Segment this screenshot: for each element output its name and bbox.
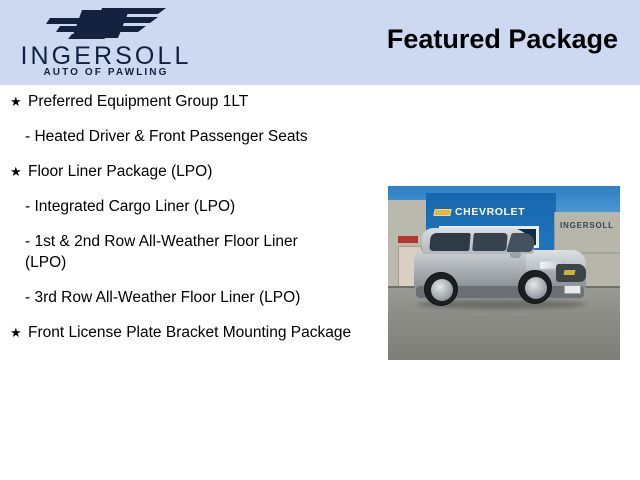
page-header: INGERSOLL AUTO OF PAWLING Featured Packa… — [0, 0, 640, 85]
page-title: Featured Package — [387, 24, 618, 55]
vehicle-photo: CHEVROLET INGERSOLL — [388, 186, 620, 360]
feature-sub-item: - 3rd Row All-Weather Floor Liner (LPO) — [25, 287, 333, 308]
feature-sub-item: - Integrated Cargo Liner (LPO) — [25, 196, 333, 217]
dealer-name: INGERSOLL — [8, 44, 204, 69]
photo-dealership-sign-text: CHEVROLET — [455, 206, 525, 218]
star-bullet-icon: ★ — [10, 91, 28, 112]
feature-item: ★ Floor Liner Package (LPO) — [0, 161, 380, 182]
star-bullet-icon: ★ — [10, 322, 28, 343]
chevrolet-bowtie-icon — [563, 270, 575, 275]
photo-suv-rear-wheel — [424, 272, 458, 306]
feature-group: ★ Preferred Equipment Group 1LT - Heated… — [0, 91, 380, 147]
dealer-branding: INGERSOLL AUTO OF PAWLING — [0, 0, 210, 85]
photo-suv-rear-window — [429, 233, 471, 251]
photo-suv-side-window — [472, 233, 508, 251]
feature-group: ★ Front License Plate Bracket Mounting P… — [0, 322, 380, 343]
photo-suv — [414, 228, 586, 310]
photo-suv-front-rim — [525, 277, 547, 299]
photo-suv-license-plate — [564, 285, 581, 294]
photo-suv-mirror — [510, 252, 521, 258]
feature-item-label: Front License Plate Bracket Mounting Pac… — [28, 322, 358, 343]
star-bullet-icon: ★ — [10, 161, 28, 182]
feature-sub-item: - 1st & 2nd Row All-Weather Floor Liner … — [25, 231, 333, 273]
feature-item: ★ Preferred Equipment Group 1LT — [0, 91, 380, 112]
content-area: ★ Preferred Equipment Group 1LT - Heated… — [0, 85, 640, 480]
dealer-tagline: AUTO OF PAWLING — [8, 68, 204, 78]
feature-group: ★ Floor Liner Package (LPO) - Integrated… — [0, 161, 380, 308]
feature-list: ★ Preferred Equipment Group 1LT - Heated… — [0, 85, 380, 345]
chevrolet-bowtie-icon — [433, 209, 451, 216]
photo-suv-rear-rim — [431, 279, 453, 301]
feature-item-label: Floor Liner Package (LPO) — [28, 161, 358, 182]
feature-item: ★ Front License Plate Bracket Mounting P… — [0, 322, 380, 343]
ingersoll-wing-emblem-icon — [46, 4, 170, 44]
feature-item-label: Preferred Equipment Group 1LT — [28, 91, 358, 112]
photo-suv-front-wheel — [518, 270, 552, 304]
feature-sub-item: - Heated Driver & Front Passenger Seats — [25, 126, 333, 147]
